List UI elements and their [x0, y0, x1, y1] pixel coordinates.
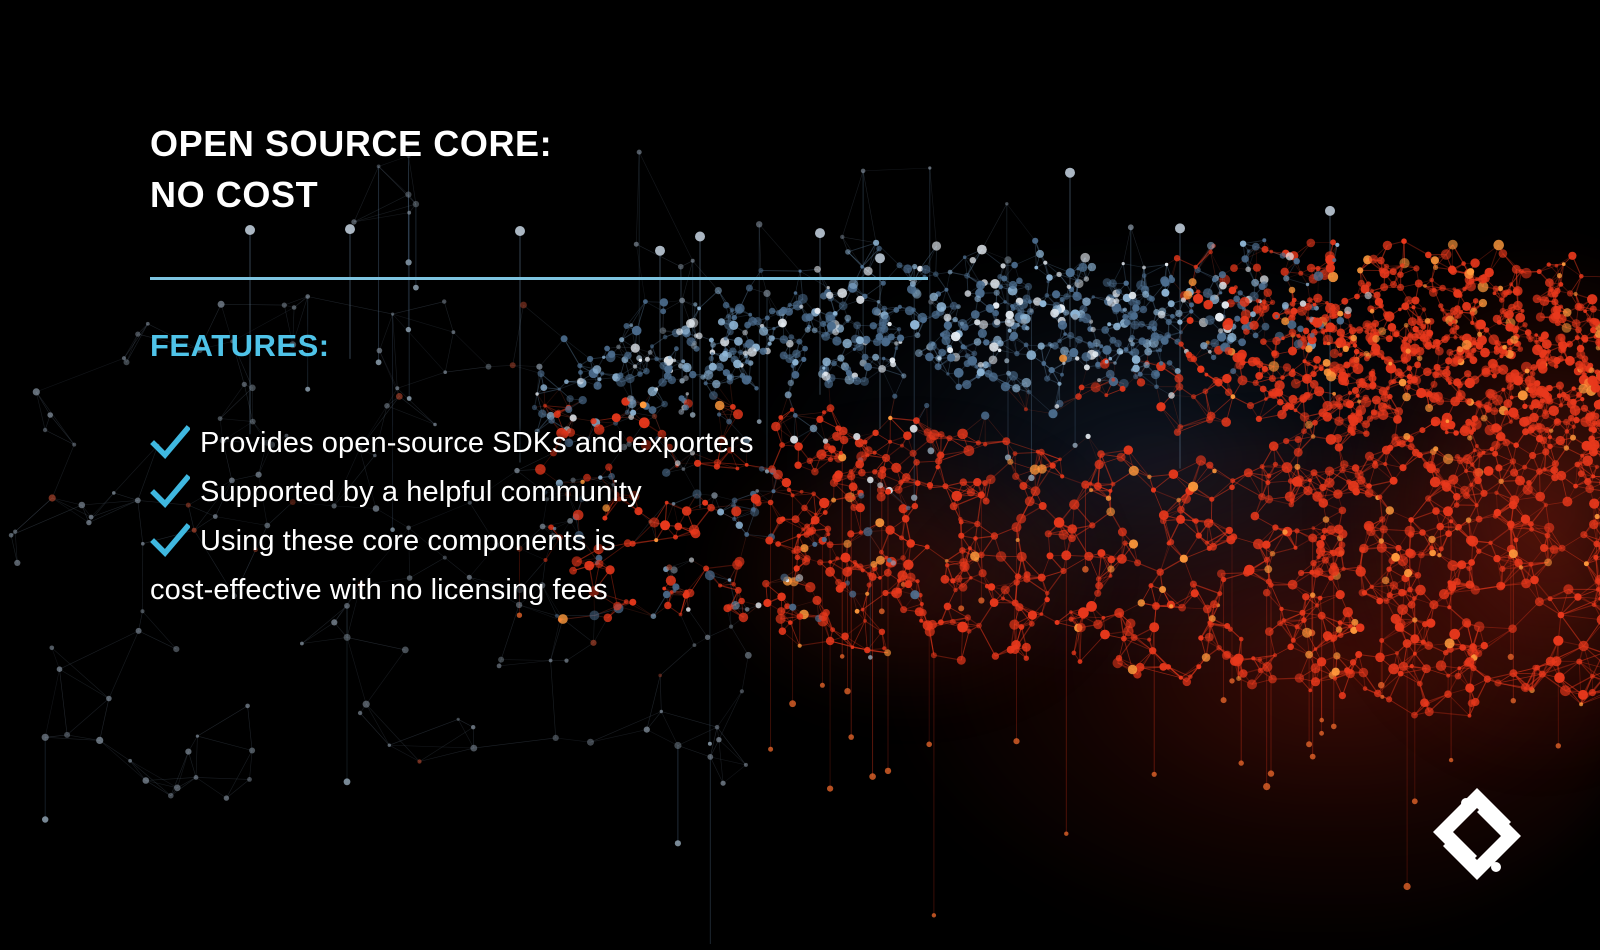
features-heading: FEATURES:: [150, 328, 330, 364]
list-item-label-continued: cost-effective with no licensing fees: [150, 567, 608, 613]
list-item: Supported by a helpful community: [150, 469, 990, 515]
title-divider: [150, 277, 928, 280]
list-item-label: Provides open-source SDKs and exporters: [200, 420, 754, 466]
check-icon: [150, 518, 190, 564]
check-icon: [150, 469, 190, 515]
page-title: OPEN SOURCE CORE: NO COST: [150, 118, 1050, 220]
list-item-continuation: cost-effective with no licensing fees: [150, 567, 990, 613]
title-line-2: NO COST: [150, 169, 1050, 220]
brand-logo: [1425, 782, 1529, 886]
title-line-1: OPEN SOURCE CORE:: [150, 118, 1050, 169]
features-list: Provides open-source SDKs and exporters …: [150, 420, 990, 616]
list-item: Provides open-source SDKs and exporters: [150, 420, 990, 466]
check-icon: [150, 420, 190, 466]
list-item-label: Supported by a helpful community: [200, 469, 642, 515]
list-item: Using these core components is: [150, 518, 990, 564]
list-item-label: Using these core components is: [200, 518, 616, 564]
